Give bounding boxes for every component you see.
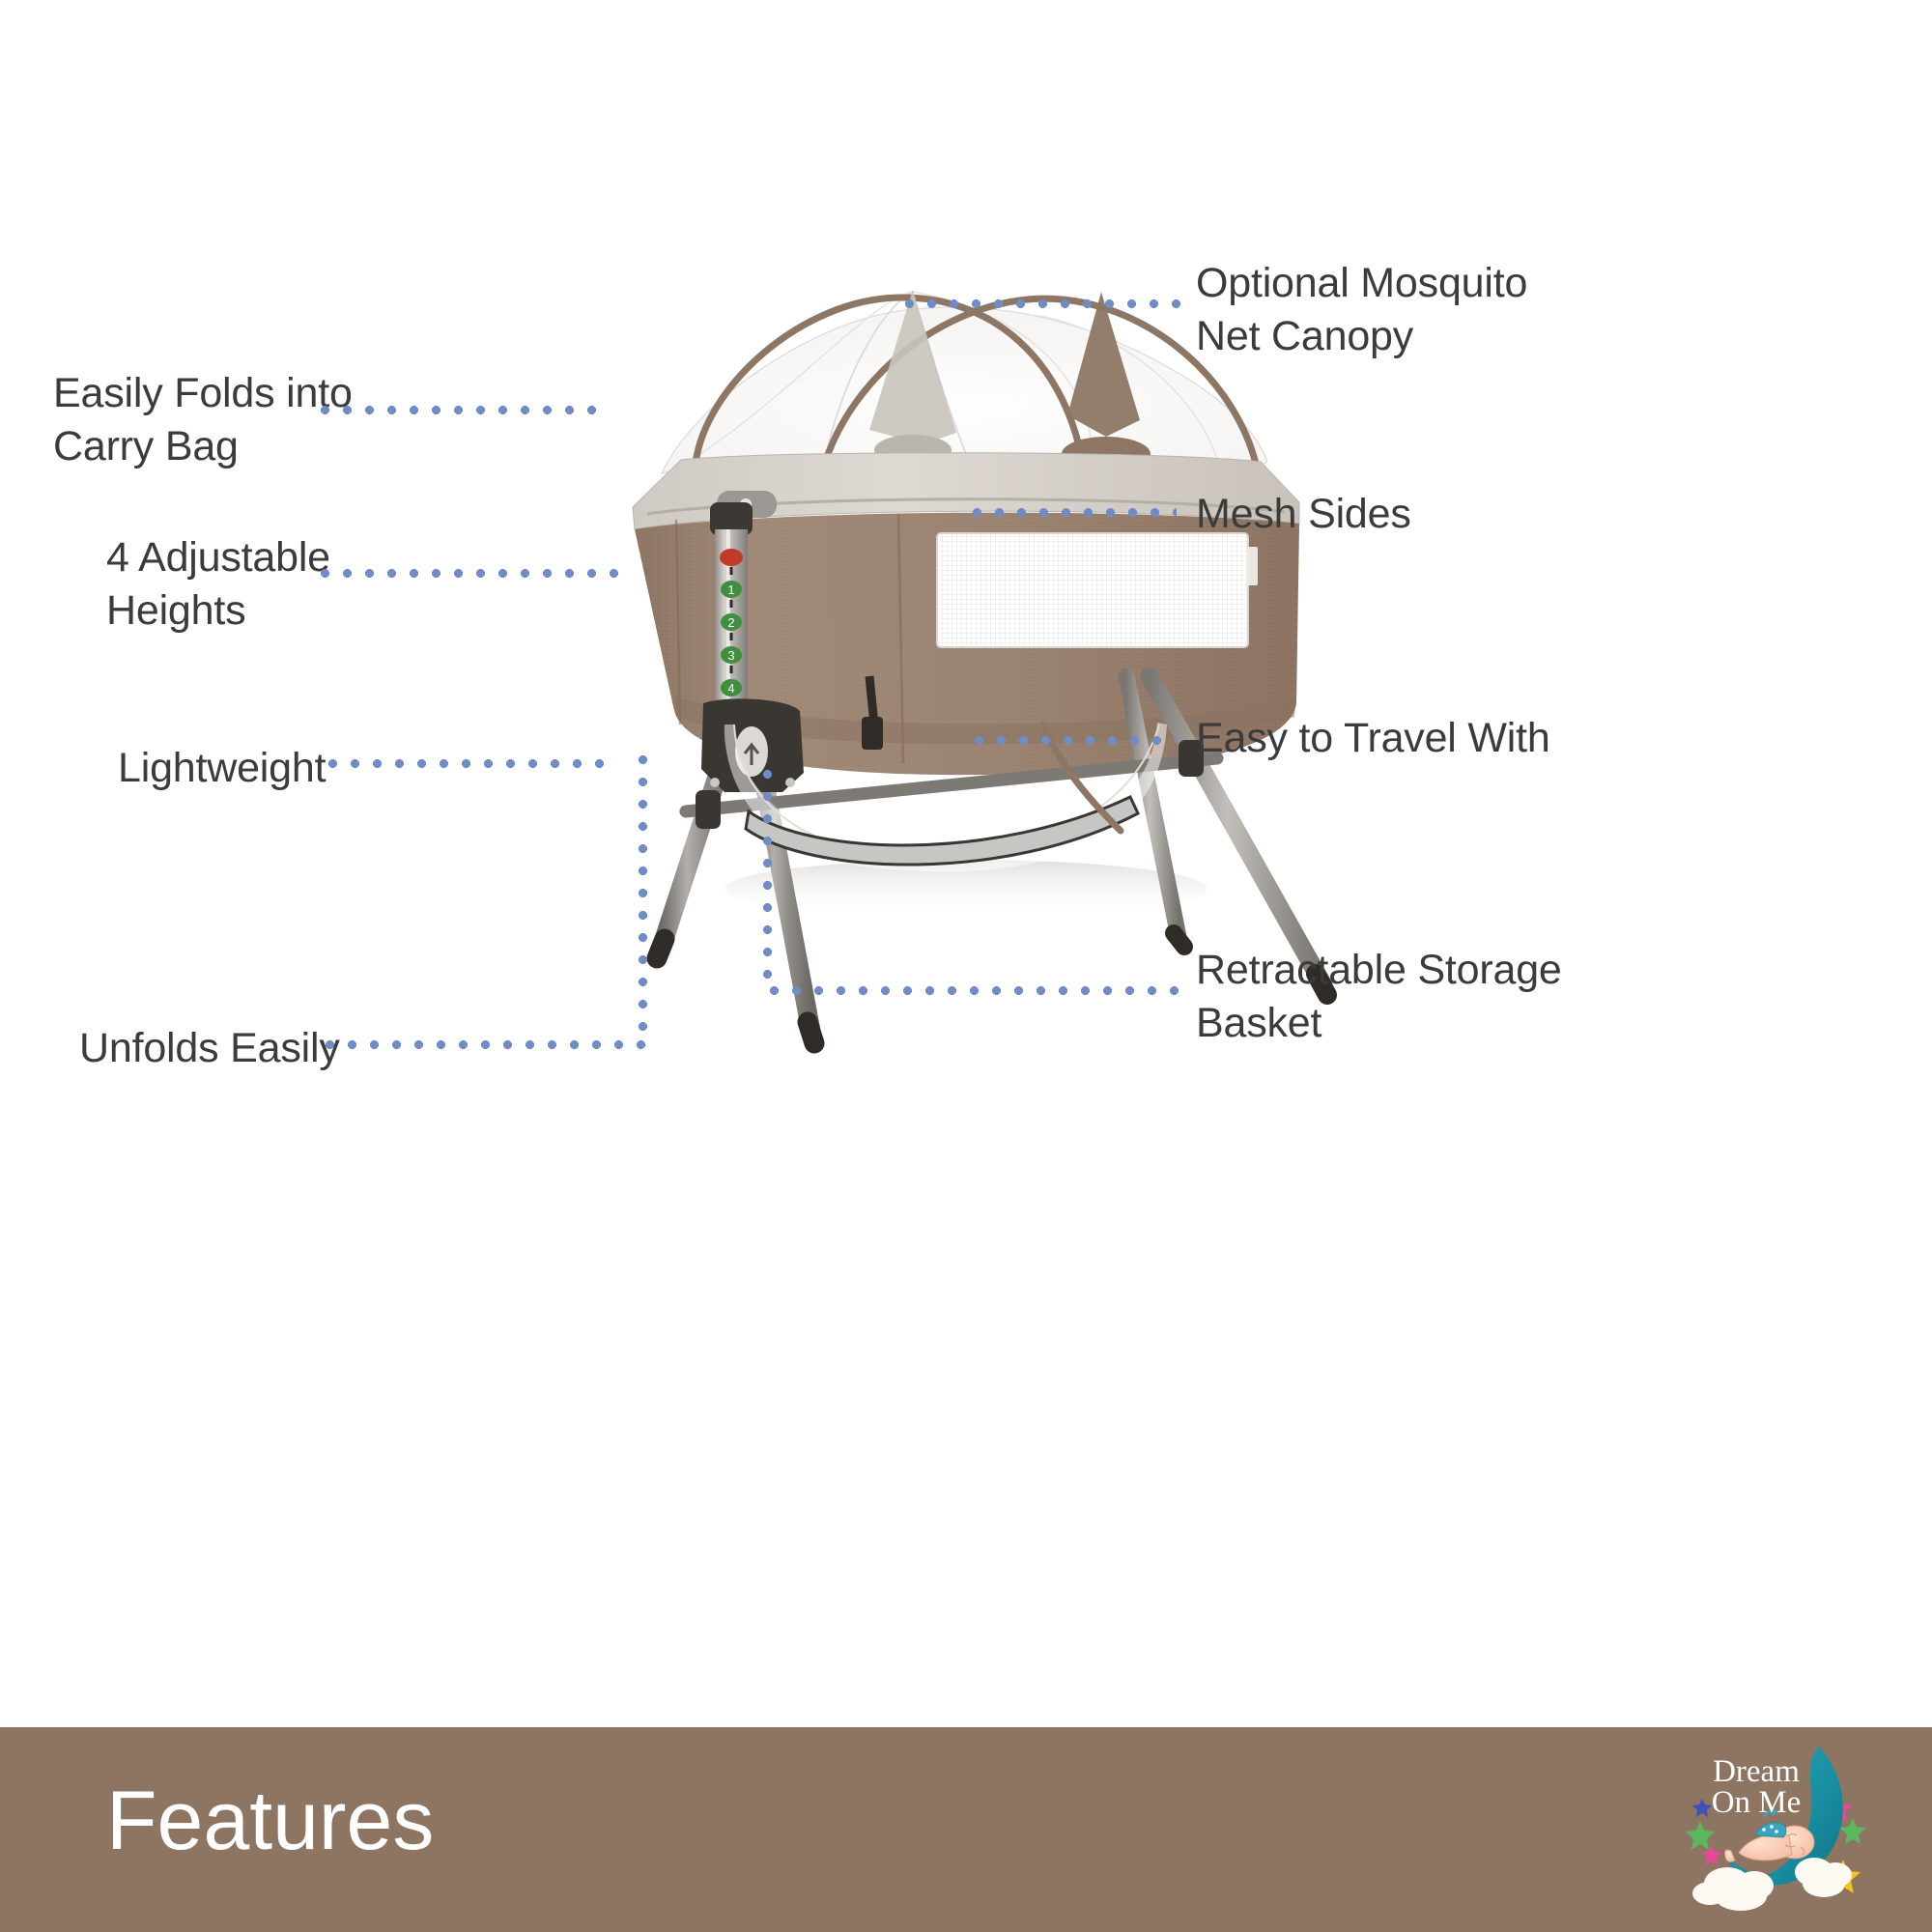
svg-text:4: 4 xyxy=(727,681,734,696)
callout-label-retractable-storage-basket: Retractable Storage Basket xyxy=(1196,944,1718,1050)
mosquito-net-canopy xyxy=(662,290,1267,473)
feature-diagram-canvas: 1 2 3 4 xyxy=(0,0,1932,1932)
logo-line-1: Dream xyxy=(1713,1754,1800,1789)
svg-text:3: 3 xyxy=(727,648,734,663)
brand-logo: Dream On Me xyxy=(1681,1739,1879,1922)
leader-line-4-adjustable-heights xyxy=(314,569,628,578)
height-indicator-lock xyxy=(720,549,743,566)
leader-line-easily-folds-into-carry-bag xyxy=(314,406,604,414)
callout-label-4-adjustable-heights: 4 Adjustable Heights xyxy=(106,531,512,638)
logo-line-2: On Me xyxy=(1712,1785,1802,1820)
leader-line-easy-to-travel-with xyxy=(968,736,1177,745)
leader-line-lightweight xyxy=(322,759,611,768)
height-adjustment-column: 1 2 3 4 xyxy=(710,502,753,701)
svg-text:1: 1 xyxy=(727,582,734,597)
leader-line-mesh-sides xyxy=(966,508,1177,517)
logo-wordmark: Dream On Me xyxy=(1712,1754,1802,1820)
leader-line-unfolds-easily-horizontal xyxy=(319,1040,647,1049)
leader-line-unfolds-easily-vertical xyxy=(639,749,647,1046)
mesh-side-panel xyxy=(937,533,1248,647)
leader-line-retractable-storage-basket-vertical xyxy=(763,763,772,991)
page-title: Features xyxy=(106,1774,434,1869)
logo-clouds xyxy=(1692,1858,1852,1911)
callout-label-optional-mosquito-net-canopy: Optional Mosquito Net Canopy xyxy=(1196,257,1698,363)
footer-bar: Features xyxy=(0,1727,1932,1932)
callout-label-mesh-sides: Mesh Sides xyxy=(1196,488,1660,541)
leader-line-optional-mosquito-net-canopy xyxy=(898,299,1180,308)
svg-text:2: 2 xyxy=(727,615,734,630)
leader-line-retractable-storage-basket-horizontal xyxy=(763,986,1179,995)
callout-label-easy-to-travel-with: Easy to Travel With xyxy=(1196,712,1718,765)
callout-label-lightweight: Lightweight xyxy=(118,742,504,795)
callout-label-easily-folds-into-carry-bag: Easily Folds into Carry Bag xyxy=(53,367,497,473)
